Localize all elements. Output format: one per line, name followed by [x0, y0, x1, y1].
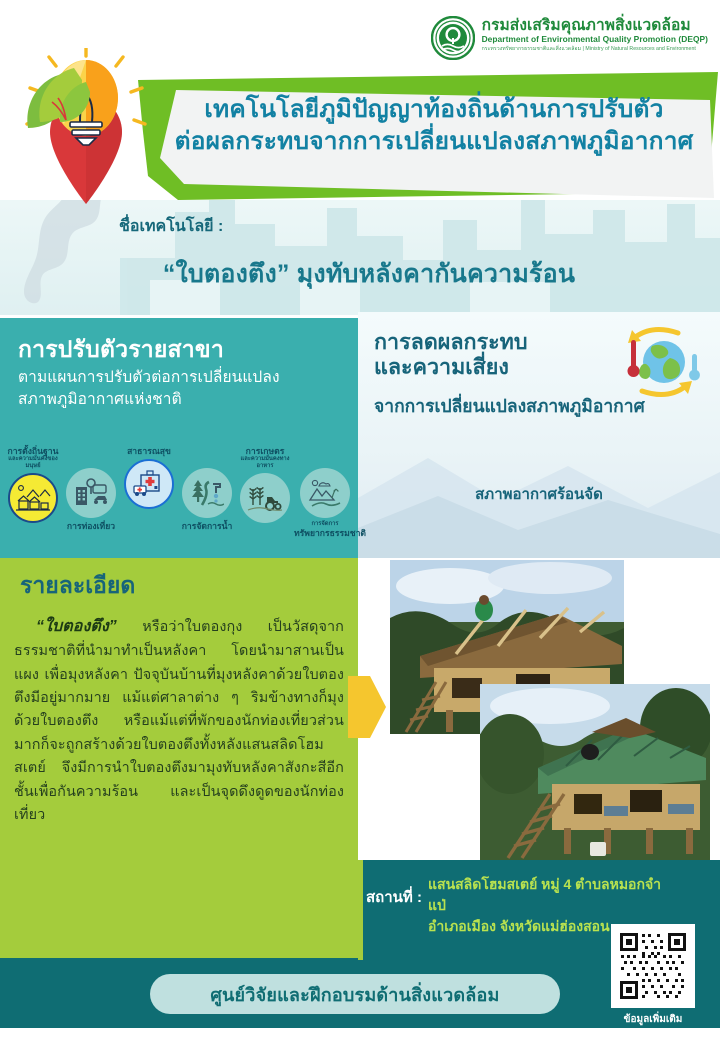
sector-public-health-label: สาธารณสุข	[127, 446, 171, 456]
mitigation-panel: การลดผลกระทบ และความเสี่ยง จากการเปลี่ยน…	[358, 312, 720, 558]
village-houses-icon	[8, 473, 58, 523]
qr-code[interactable]	[611, 924, 695, 1008]
thermometer-cold-icon	[689, 354, 700, 380]
footer-center-pill[interactable]: ศูนย์วิจัยและฝึกอบรมด้านสิ่งแวดล้อม	[150, 974, 560, 1014]
location-green-accent	[358, 860, 363, 960]
mitigation-heading-line-2: และความเสี่ยง	[374, 355, 604, 380]
hospital-ambulance-icon	[124, 459, 174, 509]
sector-public-health[interactable]: สาธารณสุข	[120, 446, 178, 509]
poster-title: เทคโนโลยีภูมิปัญญาท้องถิ่นด้านการปรับตัว…	[164, 94, 704, 158]
wheat-tractor-glyph-icon	[247, 483, 283, 513]
village-houses-glyph-icon	[15, 483, 51, 513]
sector-natural-resources-sublabel: การจัดการ	[294, 521, 356, 528]
technology-value: “ใบตองตึง” มุงทับหลังคากันความร้อน	[0, 254, 720, 294]
sector-agriculture[interactable]: การเกษตร และความมั่นคงทางอาหาร	[236, 446, 294, 523]
mountain-forest-glyph-icon	[308, 478, 342, 508]
adaptation-subheading-line-2: สภาพภูมิอากาศแห่งชาติ	[18, 389, 342, 410]
sector-natural-resources-label: ทรัพยากรธรรมชาติ	[294, 528, 366, 538]
river-faucet-icon	[182, 468, 232, 518]
wheat-tractor-icon	[240, 473, 290, 523]
tourism-travel-icon	[66, 468, 116, 518]
footer-label: ศูนย์วิจัยและฝึกอบรมด้านสิ่งแวดล้อม	[210, 980, 499, 1009]
infographic-poster: กรมส่งเสริมคุณภาพสิ่งแวดล้อม Department …	[0, 0, 720, 1040]
sector-agriculture-caption: การเกษตร และความมั่นคงทางอาหาร	[236, 446, 294, 470]
sector-settlement-label: การตั้งถิ่นฐาน	[8, 446, 59, 456]
sector-agriculture-sublabel: และความมั่นคงทางอาหาร	[236, 456, 294, 470]
details-body: “ใบตองตึง” หรือว่าใบตองกุง เป็นวัสดุจากธ…	[14, 614, 344, 828]
hospital-ambulance-glyph-icon	[132, 469, 166, 499]
sector-settlement-caption: การตั้งถิ่นฐาน และความมั่นคงของมนุษย์	[4, 446, 62, 470]
tourism-travel-glyph-icon	[74, 478, 108, 508]
photo-gallery	[358, 558, 720, 860]
qr-caption: ข้อมูลเพิ่มเติม	[603, 1012, 703, 1027]
sector-water-label: การจัดการน้ำ	[182, 521, 233, 531]
sector-settlement-sublabel: และความมั่นคงของมนุษย์	[4, 456, 62, 470]
photo-green-roof-house	[480, 684, 710, 860]
org-name-th: กรมส่งเสริมคุณภาพสิ่งแวดล้อม	[482, 17, 708, 34]
adaptation-heading: การปรับตัวรายสาขา	[18, 336, 342, 362]
details-text: หรือว่าใบตองกุง เป็นวัสดุจากธรรมชาติที่น…	[14, 619, 344, 823]
thermometer-hot-icon	[628, 340, 640, 377]
sector-water-caption: การจัดการน้ำ	[178, 521, 236, 531]
mitigation-heading-line-1: การลดผลกระทบ	[374, 330, 604, 355]
title-ribbon: เทคโนโลยีภูมิปัญญาท้องถิ่นด้านการปรับตัว…	[118, 72, 718, 200]
sector-natural-resources[interactable]: การจัดการ ทรัพยากรธรรมชาติ	[294, 468, 356, 538]
sector-water-management[interactable]: การจัดการน้ำ	[178, 468, 236, 531]
details-title: รายละเอียด	[20, 568, 135, 604]
adaptation-sector-strip: การตั้งถิ่นฐาน และความมั่นคงของมนุษย์	[0, 440, 358, 552]
location-label: สถานที่ :	[366, 885, 422, 909]
qr-code-icon	[618, 931, 688, 1001]
sector-settlement[interactable]: การตั้งถิ่นฐาน และความมั่นคงของมนุษย์	[4, 446, 62, 523]
bottom-white-margin	[0, 1028, 720, 1040]
org-ministry: กระทรวงทรัพยากรธรรมชาติและสิ่งแวดล้อม | …	[482, 46, 708, 53]
arrow-right-glyph-icon	[348, 676, 386, 738]
technology-label: ชื่อเทคโนโลยี :	[119, 214, 223, 239]
mitigation-heading: การลดผลกระทบ และความเสี่ยง	[374, 330, 604, 380]
sector-public-health-caption: สาธารณสุข	[120, 446, 178, 456]
sector-tourism-caption: การท่องเที่ยว	[62, 521, 120, 531]
mountain-forest-icon	[300, 468, 350, 518]
title-line-1: เทคโนโลยีภูมิปัญญาท้องถิ่นด้านการปรับตัว	[164, 94, 704, 126]
details-lead: “ใบตองตึง”	[36, 618, 117, 635]
deqp-logo: กรมส่งเสริมคุณภาพสิ่งแวดล้อม Department …	[431, 16, 708, 60]
technology-name-block: ชื่อเทคโนโลยี : “ใบตองตึง” มุงทับหลังคาก…	[0, 206, 720, 312]
mitigation-note: สภาพอากาศร้อนจัด	[358, 482, 720, 506]
location-line-1: แสนสลิดโฮมสเตย์ หมู่ 4 ตำบลหมอกจำแป่	[428, 874, 678, 916]
sector-natural-resources-caption: การจัดการ ทรัพยากรธรรมชาติ	[294, 521, 356, 538]
deqp-tree-water-circle-logo-icon	[431, 16, 475, 60]
lightbulb-leaf-map-pin-emblem	[8, 48, 158, 208]
title-line-2: ต่อผลกระทบจากการเปลี่ยนแปลงสภาพภูมิอากาศ	[164, 126, 704, 158]
adaptation-subheading-line-1: ตามแผนการปรับตัวต่อการเปลี่ยนแปลง	[18, 367, 342, 388]
river-faucet-glyph-icon	[190, 478, 224, 508]
globe-thermometer-glyph-icon	[616, 324, 704, 402]
yellow-right-arrow-icon	[348, 676, 386, 738]
stilt-house-green-roof-photo-icon	[480, 684, 710, 860]
bulb-leaf-pin-icon	[8, 48, 158, 208]
globe-thermometer-cycle-icon	[616, 324, 704, 402]
org-name-en: Department of Environmental Quality Prom…	[482, 34, 708, 45]
details-panel: รายละเอียด “ใบตองตึง” หรือว่าใบตองกุง เป…	[0, 558, 358, 958]
sector-tourism-label: การท่องเที่ยว	[67, 521, 115, 531]
sector-tourism[interactable]: การท่องเที่ยว	[62, 468, 120, 531]
sector-agriculture-label: การเกษตร	[246, 446, 285, 456]
